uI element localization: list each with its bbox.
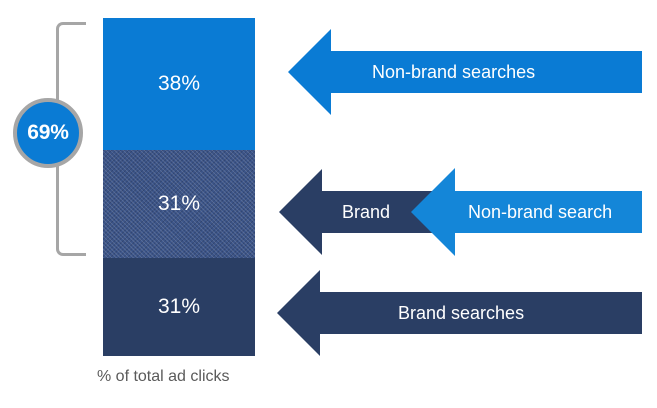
infographic-canvas: 69% 38% 31% 31% % of total ad clicks Non… bbox=[0, 0, 657, 408]
bar-segment-brand-label: 31% bbox=[158, 295, 200, 319]
arrow-brand-label: Brand bbox=[342, 202, 390, 223]
bar-segment-mixed-label: 31% bbox=[158, 192, 200, 216]
arrow-row-nonbrand-searches: Non-brand searches bbox=[288, 26, 642, 118]
bar-segment-brand: 31% bbox=[103, 258, 255, 356]
arrow-brand-searches: Brand searches bbox=[277, 267, 642, 359]
arrow-brand-searches-label: Brand searches bbox=[398, 303, 524, 324]
arrow-nonbrand-searches-label: Non-brand searches bbox=[372, 62, 535, 83]
bar-segment-nonbrand: 38% bbox=[103, 18, 255, 150]
arrow-row-brand-searches: Brand searches bbox=[277, 267, 642, 359]
badge-label: 69% bbox=[27, 121, 68, 145]
stacked-bar-chart: 38% 31% 31% bbox=[103, 18, 255, 356]
incremental-percentage-badge: 69% bbox=[13, 98, 83, 168]
arrow-row-brand-nonbrand: Brand Non-brand search bbox=[279, 166, 642, 258]
bar-segment-nonbrand-label: 38% bbox=[158, 72, 200, 96]
arrow-nonbrand-search-label: Non-brand search bbox=[468, 202, 612, 223]
arrow-nonbrand-searches: Non-brand searches bbox=[288, 26, 642, 118]
chart-caption: % of total ad clicks bbox=[97, 368, 230, 386]
arrow-nonbrand-search: Non-brand search bbox=[411, 166, 642, 258]
bar-segment-mixed: 31% bbox=[103, 150, 255, 258]
